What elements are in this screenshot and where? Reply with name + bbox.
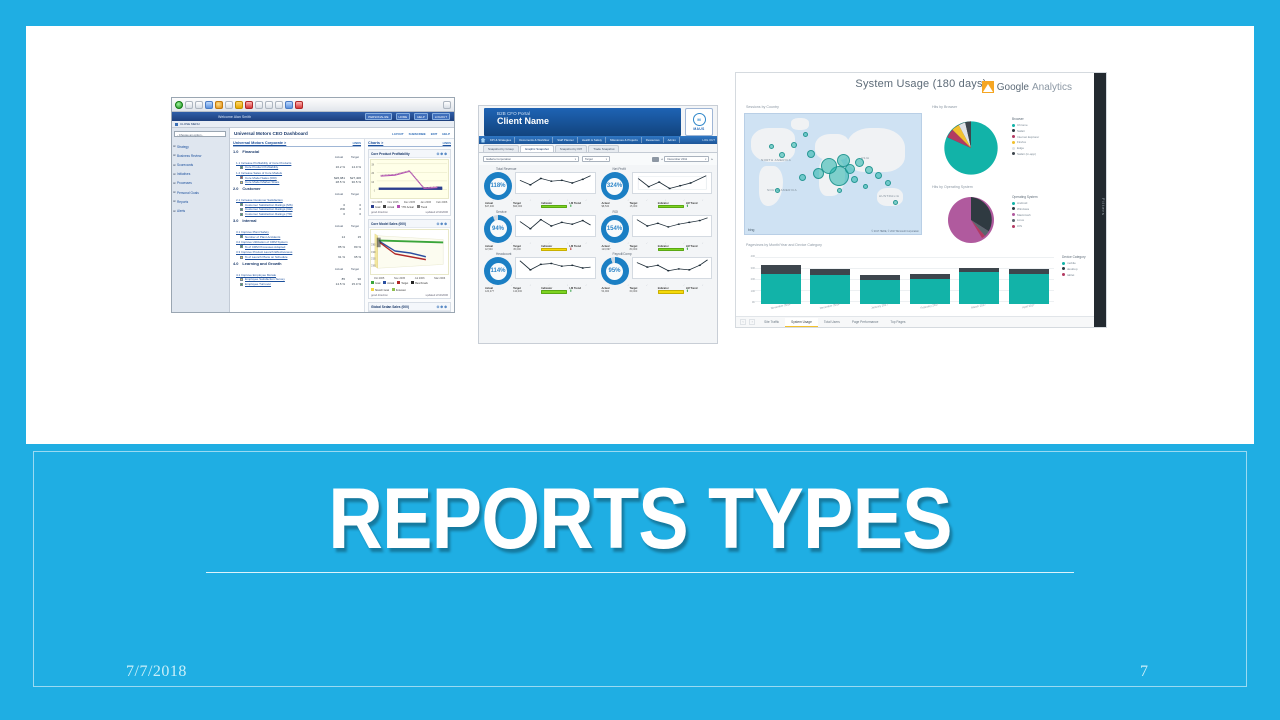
objective[interactable]: 1.2 Increase Sales of Core Models [236,171,361,175]
metric-target: 110,000 [513,290,539,293]
personalize-button[interactable]: PERSONALIZE [365,113,391,120]
report-page-tabs[interactable]: ‹ › Site Traffic System Usage Total User… [736,316,1094,327]
bar-december-2016[interactable] [810,257,850,304]
metric-trend: ⬇ [569,248,595,252]
legend-title: Operating System [1012,195,1038,199]
legend-device-category: Device Category mobile desktop tablet [1062,255,1086,278]
kpi-target: 0 [345,212,361,216]
legend-item: tablet [1062,273,1086,277]
footer-page-number: 7 [1140,663,1149,681]
sidebar-item-initiatives[interactable]: Initiatives [174,170,227,179]
mail-icon[interactable] [255,101,263,109]
legend-item: mobile [1062,261,1086,265]
close-menu-label: CLOSE MENU [180,122,200,126]
svg-text:100: 100 [371,180,374,184]
tab-page-performance[interactable]: Page Performance [846,318,885,326]
portal-header: B2B CFO Portal Client Name M MAUS [479,106,717,136]
kpi-row[interactable]: Number of Plant Accidents 14 15 [240,235,361,239]
sidebar-item-alerts[interactable]: Alerts [174,206,227,215]
chart-title: Global Sedan Sales (000) [371,305,409,309]
metric-indicator [658,290,684,293]
bar-march-2017[interactable] [959,257,999,304]
kpi-row[interactable]: Employee Turnover 14.5 % 15.0 % [240,282,361,286]
logo-name: MAUS [693,127,704,131]
trend-arrow-up-icon: ⬆ [569,289,572,293]
col-actual: Actual [335,267,343,271]
tab-snapshot-by-kpi[interactable]: Snapshot by KPI [555,145,587,152]
kpi-row[interactable]: % of Launch Plans on Schedule 91 % 95 % [240,255,361,259]
metric-values: 123,697 80,000 ⬆ [601,248,713,252]
y-tick: 400 [751,255,755,258]
kpi-label: ROI [601,210,713,214]
option-select[interactable]: - Choose an option - [174,131,226,137]
kpi-row[interactable]: Core Model Sales (000) $26,981 $27,406 [240,176,361,180]
kpi-card-payroll-comp: Payroll/Comp 95% ∕∕∕∕∕∕ [601,252,713,294]
svg-text:27,800: 27,800 [371,244,376,247]
messenger-icon[interactable] [295,101,303,109]
status-indicator-green [240,203,243,206]
indicator-chip-yellow [658,290,684,293]
refresh-icon[interactable] [205,101,213,109]
kpi-name[interactable]: % of Launch Plans on Schedule [245,255,329,259]
map-label-south-america: SOUTH AMERICA [767,188,797,192]
x-tick: Oct 2005 [372,201,383,204]
pie1-title: Hits by Browser [932,105,957,109]
chart-title-row: Core Model Sales (000) ⊙⊕⊗ [369,220,450,228]
help-button[interactable]: HELP [414,113,428,120]
kpi-name[interactable]: Customer Satisfaction Ratings (MS) [245,203,329,207]
page-actions: LAYOUT SUBSCRIBE EDIT HELP [392,132,450,136]
chart-x-axis: Oct 2005 Nov 2005 Dec 2005 Jan 2006 Feb … [369,200,450,204]
3d-line-chart-svg: 27,80027,400 27,20027,000 [371,230,448,274]
kpi-percent: 324% [606,178,623,195]
logo-mark-icon: M [693,113,706,126]
world-map[interactable]: NORTH AMERICA ASIA SOUTH AMERICA AUSTRAL… [744,113,922,235]
metric-indicator [658,248,684,251]
kpi-percent: 154% [606,220,623,237]
metric-target: 80,000 [630,248,656,251]
perspective-name: Customer [242,186,260,191]
chart-core-model-sales: Core Model Sales (000) ⊙⊕⊗ 27,80027,400 [368,219,451,299]
toolbar-overflow-icon[interactable] [443,101,451,109]
main-navigation[interactable]: KPI & Strategies Documents & Workflow St… [479,136,717,144]
kpi-row[interactable]: % of CRM Processes Adopted 85 % 80 % [240,245,361,249]
metric-actual: 123,697 [602,248,628,251]
measure-select[interactable]: Target ▾ [582,156,610,162]
prev-page-icon[interactable]: ‹ [740,319,746,325]
legend-item: Internet Explorer [1012,135,1039,139]
perspective-customer: 2.0Customer [233,186,361,191]
kpi-label: Net Profit [601,167,713,171]
svg-text:27,200: 27,200 [371,258,376,261]
svg-text:0: 0 [374,189,375,193]
logout-button[interactable]: LOGOUT [432,113,450,120]
legend-item: Safari (in-app) [1012,152,1039,156]
metric-trend: ⬆ [569,290,595,294]
legend-item: Firefox [1012,140,1039,144]
scorecard-header[interactable]: Universal Motors Corporate > LINKS [233,141,361,147]
title-underline [206,572,1074,573]
kpi-name[interactable]: Customer Satisfaction Ratings (GE) [245,207,329,211]
bing-attribution: bing [748,228,754,232]
filter-right-group: ◂ December 2011 ▾ ▸ [652,156,713,162]
chart-title-row: Global Sedan Sales (000) ⊙⊕⊗ [369,303,450,311]
subscribe-action[interactable]: SUBSCRIBE [409,132,426,136]
nav-item-health-safety[interactable]: Health & Safety [579,137,606,143]
home-icon[interactable] [481,138,486,143]
nav-item-staff-planner[interactable]: Staff Planner [554,137,578,143]
kpi-label: Service [484,210,596,214]
objective[interactable]: 1.1 Increase Profitability of Core Produ… [236,161,361,165]
svg-text:200: 200 [371,172,374,176]
layout-action[interactable]: LAYOUT [392,132,404,136]
favorites-icon[interactable] [235,101,243,109]
svg-text:27,000: 27,000 [371,265,376,268]
kpi-sparkline [632,257,713,279]
stop-icon[interactable] [195,101,203,109]
perspective-number: 2.0 [233,186,238,191]
tab-graphic-snapshot[interactable]: Graphic Snapshot [520,145,554,152]
sparkline-svg [633,173,712,193]
kpi-percent: 118% [490,178,507,195]
objective[interactable]: 3.3 Improve Product Launch Effectiveness [236,250,361,254]
sidebar-item-processes[interactable]: Processes [174,179,227,188]
kpi-body: 324% [601,172,713,200]
x-tick: Jul 2006 [415,277,425,280]
kpi-sparkline [515,257,596,279]
x-axis-ticks: November 2016 December 2016 January 2017… [756,304,1054,313]
kpi-card-net-profit: Net Profit 324% ∕∕∕∕∕ [601,167,713,209]
sidebar-item-scorecards[interactable]: Scorecards [174,160,227,169]
perspective-financial: 1.0Financial [233,149,361,154]
kpi-sparkline [632,172,713,194]
logout-link[interactable]: LOG OUT [702,138,717,142]
perspective-learning-growth: 4.0Learning and Growth [233,261,361,266]
kpi-sparkline [515,215,596,237]
charts-breadcrumb[interactable]: Charts > [368,141,383,145]
metric-trend: ⬆ [686,248,712,252]
perspective-number: 3.0 [233,218,238,223]
print-icon[interactable] [652,157,659,162]
analytics-bars-icon [982,81,994,93]
charts-header[interactable]: Charts > LINKS [368,141,451,147]
kpi-actual: 14.5 % [329,282,345,286]
tab-snapshot-by-group[interactable]: Snapshot by Group [483,145,519,152]
footer-date: 7/7/2018 [126,663,187,681]
legend-item: iOS [1012,224,1038,228]
legend-item: Linux [1012,218,1038,222]
dashboard-body: - Choose an option - Strategy Business R… [172,128,454,313]
legend-item: Goal [371,281,380,285]
col-actual: Actual [335,224,343,228]
metric-target: 15,000 [630,205,656,208]
column-headers: Actual Target [233,224,361,228]
y-tick: 100 [751,290,755,293]
browser-toolbar[interactable] [172,98,454,112]
kpi-actual: 85 [329,277,345,281]
sidebar-item-reports[interactable]: Reports [174,197,227,206]
kpi-gauge: 114% [484,257,512,285]
status-indicator-yellow [240,278,243,281]
bars-plot-area [756,257,1054,304]
objective[interactable]: 2.1 Increase Customer Satisfaction [236,198,361,202]
y-tick: 0K [752,301,755,304]
legend-item: Android [1012,201,1038,205]
edit-icon[interactable] [275,101,283,109]
chart-footer: good direction updated 2/10/2006 [369,210,450,215]
bar-february-2017[interactable] [910,257,950,304]
tab-system-usage[interactable]: System Usage [785,318,818,327]
kpi-row[interactable]: Customer Satisfaction Ratings (GE) WD 0 [240,207,361,211]
kpi-name[interactable]: % of CRM Processes Adopted [245,245,329,249]
line-chart-svg: 300200 1000 [371,160,448,198]
search-icon[interactable] [225,101,233,109]
sparkline-svg [633,258,712,278]
kpi-target: 15 [345,235,361,239]
tab-total-users[interactable]: Total Users [818,318,846,326]
kpi-actual: 0 [329,203,345,207]
period-value: December 2011 [667,157,687,161]
chart-tools-icons[interactable]: ⊙⊕⊗ [436,305,448,309]
tab-trade-snapshot[interactable]: Trade Snapshot [588,145,619,152]
kpi-card-total-revenue: Total Revenue 118% ∕∕∕∕ [484,167,596,209]
brand-word-google: Google [997,82,1029,93]
dashboard-columns: Universal Motors Corporate > LINKS 1.0Fi… [230,139,454,313]
legend-item: Actual [383,281,394,285]
kpi-row[interactable]: Core Product Profitability 16.2 % 14.0 % [240,165,361,169]
chart-tools-icons[interactable]: ⊙⊕⊗ [436,152,448,156]
legend-title: Device Category [1062,255,1086,259]
period-select[interactable]: December 2011 ▾ [664,156,709,162]
kpi-row[interactable]: Customer Satisfaction Ratings (MS) 0 0 [240,203,361,207]
kpi-row[interactable]: Employee Satisfaction Survey 85 90 [240,277,361,281]
legend-item: Windows [1012,207,1038,211]
status-indicator-green [240,208,243,211]
client-name: Client Name [497,116,681,127]
kpi-actual: 14 [329,235,345,239]
sidebar-item-strategy[interactable]: Strategy [174,142,227,151]
perspective-name: Financial [242,149,259,154]
metric-target: 60,000 [630,290,656,293]
kpi-actual: 91 % [329,255,345,259]
kpi-label: Payroll/Comp [601,252,713,256]
indicator-chip-green [541,290,567,293]
col-target: Target [351,224,359,228]
nav-item-documents-workflow[interactable]: Documents & Workflow [516,137,553,143]
kpi-actual: 16.2 % [329,165,345,169]
col-target: Target [351,155,359,159]
legend-title: Browser [1012,117,1039,121]
x-tick: Nov 2005 [388,201,399,204]
edit-action[interactable]: EDIT [431,132,438,136]
home-button[interactable]: HOME [396,113,411,120]
next-period-button[interactable]: ▸ [711,157,713,161]
back-icon[interactable] [175,101,183,109]
scorecard-links[interactable]: LINKS [353,141,361,145]
kpi-target: $27,406 [345,176,361,180]
metric-actual: $8,534 [602,205,628,208]
indicator-chip-green [658,205,684,208]
updated-note: updated 2/10/2006 [426,294,448,297]
trend-arrow-up-icon: ⬆ [686,204,689,208]
column-headers: Actual Target [233,267,361,271]
metric-trend: ⬆ [686,205,712,209]
stacked-bar-chart[interactable]: 400 300 200 100 0K November 2016 Decembe… [744,251,1054,313]
bar-january-2017[interactable] [860,257,900,304]
kpi-percent: 114% [490,263,507,280]
chart-core-product-profitability: Core Product Profitability ⊙⊕⊗ [368,149,451,216]
welcome-text: Welcome Alan Smith [176,115,361,119]
kpi-row: Total Revenue 118% ∕∕∕∕ [484,167,712,209]
sparkline-svg [516,258,595,278]
next-page-icon[interactable]: › [749,319,755,325]
forward-icon[interactable] [185,101,193,109]
presentation-slide: Welcome Alan Smith PERSONALIZE HOME HELP… [0,0,1280,720]
metric-trend: ⬆ [686,290,712,294]
history-icon[interactable] [245,101,253,109]
kpi-actual: $26,981 [329,176,345,180]
x-tick: Jan 2006 [420,201,431,204]
scorecard-breadcrumb[interactable]: Universal Motors Corporate > [233,141,286,145]
page-title: REPORTS TYPES [77,474,1203,564]
pie-chart-hits-by-operating-system[interactable] [946,195,996,245]
kpi-name[interactable]: Number of Plant Accidents [245,235,329,239]
legend-item: Chrome [1012,123,1039,127]
pie-chart-hits-by-browser[interactable] [942,119,1000,177]
trend-arrow-down-icon: ⬇ [569,247,572,251]
col-target: Target [351,192,359,196]
kpi-target: 90 [345,277,361,281]
bar-april-2017[interactable] [1009,257,1049,304]
collapse-icon [175,123,178,126]
chart-title-row: Core Product Profitability ⊙⊕⊗ [369,150,450,158]
map-label-north-america: NORTH AMERICA [761,158,791,162]
kpi-target: 14.0 % [345,165,361,169]
objective[interactable]: 4.1 Improve Employee Morale [236,273,361,277]
help-action[interactable]: HELP [442,132,450,136]
maus-logo: M MAUS [685,108,713,136]
status-indicator-green [240,213,243,216]
kpi-row[interactable]: Customer Satisfaction Ratings (TR) 0 0 [240,212,361,216]
scorecard-column: Universal Motors Corporate > LINKS 1.0Fi… [230,139,365,313]
legend-item: Goal [371,205,380,209]
kpi-gauge: 324% [601,172,629,200]
kpi-name[interactable]: Customer Satisfaction Ratings (TR) [245,212,329,216]
kpi-body: 154% [601,215,713,243]
chart-footer: good direction updated 2/10/2006 [369,293,450,298]
barchart-title: Pageviews by Month/Year and Device Categ… [746,243,822,247]
kpi-name[interactable]: Core Model Market Share [245,180,329,184]
sidebar-item-personal-goals[interactable]: Personal Goals [174,188,227,197]
kpi-label: Total Revenue [484,167,596,171]
kpi-target: 0 [345,203,361,207]
tab-top-pages[interactable]: Top Pages [884,318,911,326]
y-axis-ticks: 400 300 200 100 0K [744,255,755,304]
legend-item: Benchmark [411,281,428,285]
status-indicator-yellow [240,181,243,184]
trend-arrow-up-icon: ⬆ [686,247,689,251]
chart-title: Core Product Profitability [371,152,410,156]
home-icon[interactable] [215,101,223,109]
y-tick: 200 [751,278,755,281]
y-tick: 300 [751,267,755,270]
legend-item: Forecast [392,288,406,292]
kpi-body: 118% [484,172,596,200]
metric-target: $90,000 [513,205,539,208]
metric-values: 42,540 45,000 ⬇ [484,248,596,252]
kpi-name[interactable]: Core Product Profitability [245,165,329,169]
chevron-down-icon: ▾ [572,158,576,161]
kpi-actual: 0 [329,212,345,216]
kpi-actual: WD [329,207,345,211]
sparkline-svg [516,173,595,193]
legend-item: Edge [1012,146,1039,150]
kpi-target: 80 % [345,245,361,249]
bar-november-2016[interactable] [761,257,801,304]
screenshot-system-usage-dashboard: System Usage (180 days) Google Analytics… [735,72,1107,328]
metric-values: $47,400 $90,000 ⬆ [484,205,596,209]
snapshot-tabs[interactable]: Snapshot by Group Graphic Snapshot Snaps… [479,144,717,153]
chart-legend: Goal Actual Target Benchmark Stretch Goa… [369,280,450,293]
kpi-gauge: 94% [484,215,512,243]
chevron-down-icon: ▾ [603,158,607,161]
kpi-body: 95% [601,257,713,285]
page-title: Universal Motors CEO Dashboard [234,131,308,136]
kpi-percent: 94% [490,220,507,237]
discuss-icon[interactable] [285,101,293,109]
map-panel-label: Sessions by Country [746,105,779,109]
sparkline-svg [633,216,712,236]
kpi-name[interactable]: Core Model Sales (000) [245,176,329,180]
filter-bar: Galleria Corporation ▾ Target ▾ ◂ Decemb… [479,153,717,165]
legend-item: desktop [1062,267,1086,271]
kpi-sparkline [515,172,596,194]
metric-indicator [658,205,684,208]
kpi-name[interactable]: Employee Turnover [245,282,329,286]
dashboard-main: Universal Motors CEO Dashboard LAYOUT SU… [230,128,454,313]
x-tick: Mar 2006 [434,277,445,280]
sidebar-item-business-review[interactable]: Business Review [174,151,227,160]
tab-site-traffic[interactable]: Site Traffic [758,318,785,326]
kpi-target: 30.5 % [345,180,361,184]
trend-arrow-up-icon: ⬆ [686,289,689,293]
charts-links[interactable]: LINKS [443,141,451,145]
kpi-row[interactable]: Core Model Market Share 28.5 % 30.5 % [240,180,361,184]
prev-period-button[interactable]: ◂ [661,157,663,161]
nav-item-kpi-strategies[interactable]: KPI & Strategies [487,137,515,143]
kpi-actual: 28.5 % [329,180,345,184]
filters-pane[interactable]: Filters [1094,73,1106,327]
print-icon[interactable] [265,101,273,109]
objective[interactable]: 3.2 Improve Utilization of CRM System [236,240,361,244]
close-menu-bar[interactable]: CLOSE MENU [172,121,454,128]
company-select[interactable]: Galleria Corporation ▾ [483,156,579,162]
trend-arrow-up-icon: ⬆ [569,204,572,208]
kpi-name[interactable]: Employee Satisfaction Survey [245,277,329,281]
indicator-chip-yellow [541,248,567,251]
nav-item-resources[interactable]: Resources [643,137,664,143]
kpi-target: 95 % [345,255,361,259]
nav-item-admin[interactable]: Admin [665,137,680,143]
objective[interactable]: 3.1 Improve Plant Safety [236,230,361,234]
nav-item-milestones-projects[interactable]: Milestones & Projects [607,137,642,143]
chart-tools-icons[interactable]: ⊙⊕⊗ [436,222,448,226]
left-sidebar: - Choose an option - Strategy Business R… [172,128,230,313]
metric-values: 54,900 60,000 ⬆ [601,290,713,294]
legend-item: YTD Actual [397,205,414,209]
status-indicator-green [240,245,243,248]
charts-column: Charts > LINKS Core Product Profitabilit… [365,139,454,313]
